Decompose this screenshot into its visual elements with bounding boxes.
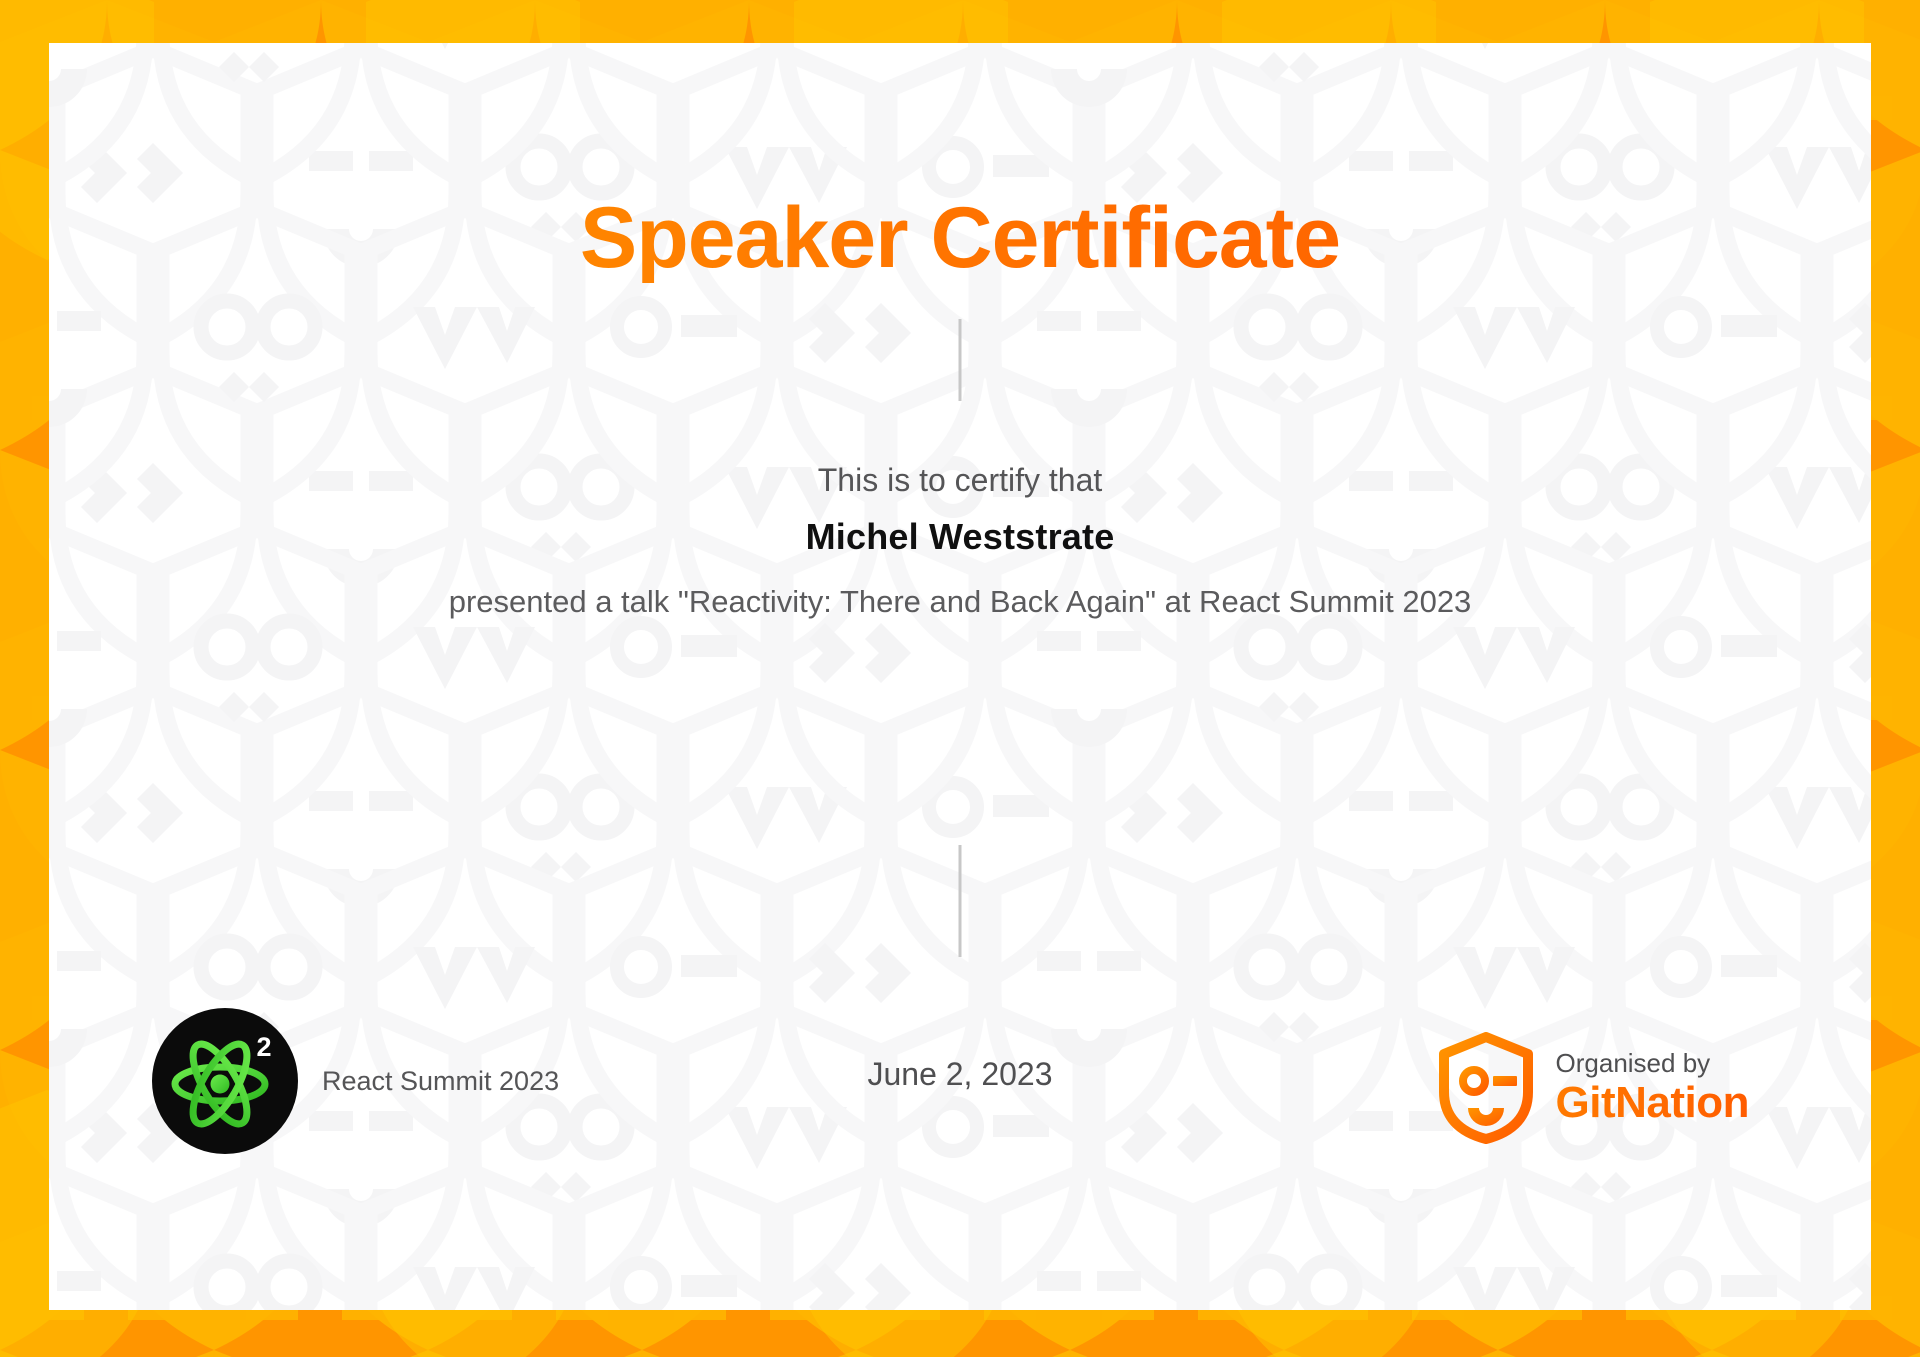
- organiser-prefix: Organised by: [1556, 1049, 1749, 1078]
- organiser-block: Organised by GitNation: [1438, 1032, 1749, 1144]
- certify-line: This is to certify that: [49, 462, 1871, 499]
- divider-bottom: [959, 845, 962, 957]
- certificate-card: Speaker Certificate This is to certify t…: [49, 43, 1871, 1310]
- organiser-name: GitNation: [1556, 1078, 1749, 1127]
- divider-top: [959, 319, 962, 401]
- gitnation-shield-face-icon: [1438, 1032, 1534, 1144]
- organiser-text: Organised by GitNation: [1556, 1049, 1749, 1127]
- certificate: Speaker Certificate This is to certify t…: [0, 0, 1920, 1357]
- certificate-footer: 2 React Summit 2023 June 2, 2023: [49, 1008, 1871, 1178]
- recipient-name: Michel Weststrate: [49, 516, 1871, 558]
- page-title: Speaker Certificate: [49, 193, 1871, 283]
- talk-description: presented a talk "Reactivity: There and …: [49, 584, 1871, 620]
